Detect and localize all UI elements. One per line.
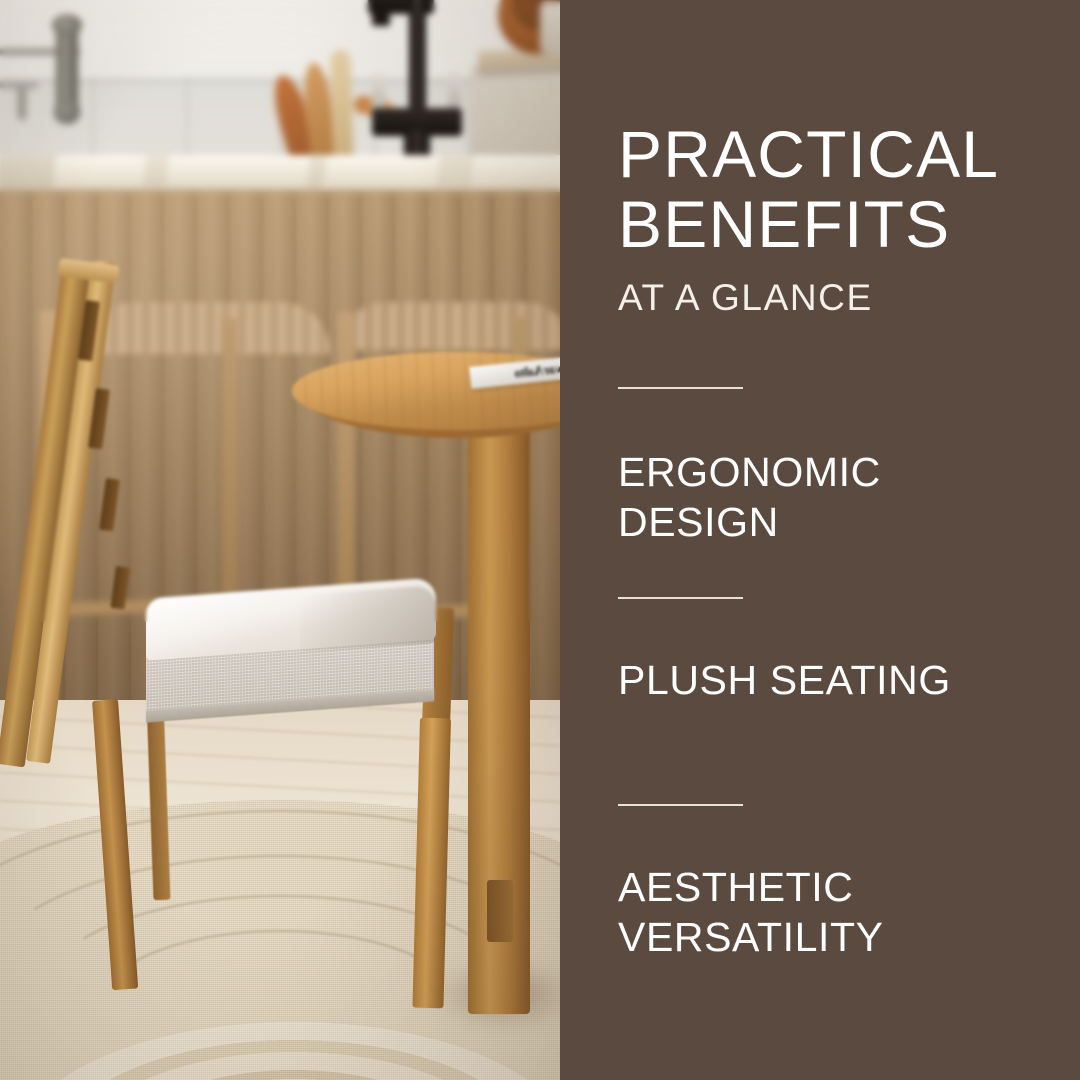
pot-filler-knob-bottom (54, 100, 80, 124)
benefits-panel: PRACTICAL BENEFITS AT A GLANCE ERGONOMIC… (560, 0, 1080, 1080)
chair-seat-shadow (300, 585, 436, 653)
page-subtitle: AT A GLANCE (618, 277, 873, 319)
table-leg-joint (487, 880, 513, 942)
faucet-handle-right (448, 72, 461, 112)
page-title: PRACTICAL BENEFITS (618, 119, 1048, 259)
divider-3 (618, 804, 743, 806)
faucet-top-fitting (372, 8, 390, 26)
promo-graphic: varAalto PRACTICAL BENEFITS AT A GLANCE … (0, 0, 1080, 1080)
right-wall-section (470, 66, 560, 160)
ceramic-jar (540, 2, 560, 54)
background-chair-back (85, 302, 330, 354)
divider-2 (618, 597, 743, 599)
faucet-handle-left (372, 72, 385, 112)
pot-filler-spout (18, 86, 27, 120)
benefit-item-1: ERGONOMIC DESIGN (618, 447, 1038, 547)
pot-filler-knob-top (52, 14, 82, 36)
benefit-item-2: PLUSH SEATING (618, 655, 1038, 705)
product-photo: varAalto (0, 0, 560, 1080)
divider-1 (618, 387, 743, 389)
faucet-column (409, 0, 426, 116)
benefit-item-3: AESTHETIC VERSATILITY (618, 862, 1038, 962)
panel-content: PRACTICAL BENEFITS AT A GLANCE ERGONOMIC… (618, 0, 1058, 1080)
wooden-utensil (330, 50, 354, 169)
